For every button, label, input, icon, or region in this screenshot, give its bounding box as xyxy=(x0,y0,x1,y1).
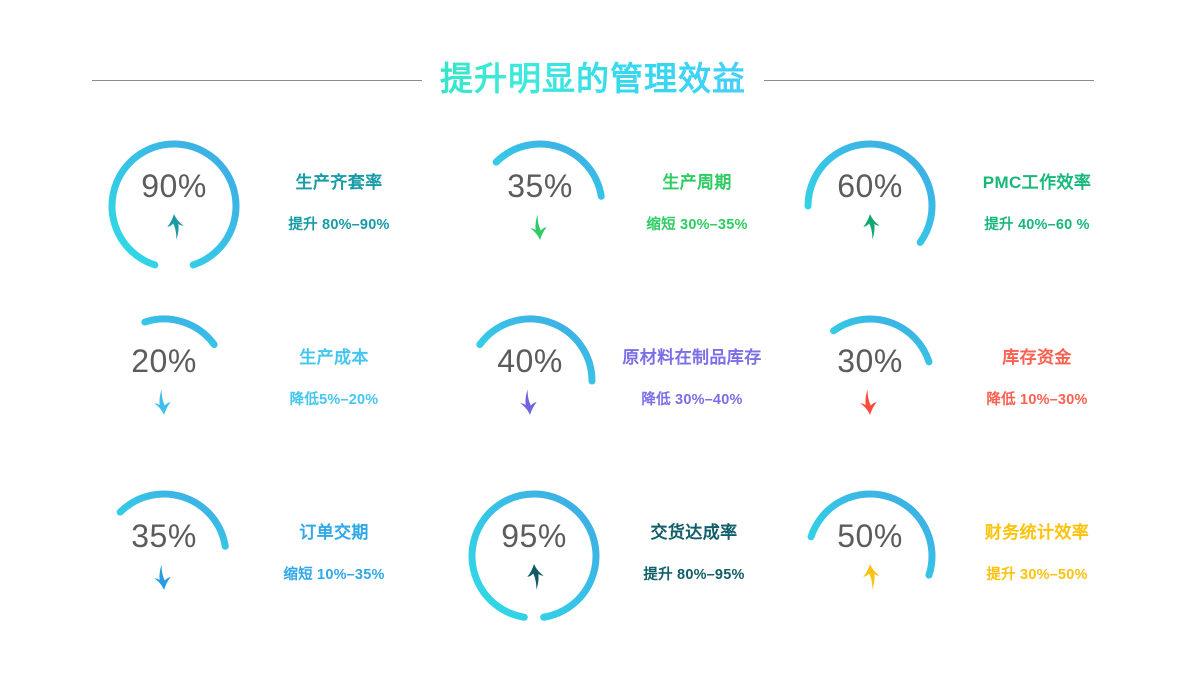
arrow-icon-svg xyxy=(517,387,543,417)
metric-text-block: 财务统计效率提升 30%–50% xyxy=(944,523,1122,585)
metric-text-block: 生产齐套率提升 80%–90% xyxy=(248,173,422,235)
trend-up-arrow-icon xyxy=(161,212,187,242)
trend-up-arrow-icon xyxy=(521,562,547,592)
metric-subtitle: 提升 80%–95% xyxy=(622,567,766,584)
trend-down-arrow-icon xyxy=(527,212,553,242)
page-title: 提升明显的管理效益 xyxy=(440,60,746,100)
progress-ring-arc xyxy=(145,318,214,344)
progress-ring-gauge: 40% xyxy=(456,307,604,455)
gauge-value-label: 95% xyxy=(460,520,608,552)
arrow-icon-svg xyxy=(161,212,187,242)
progress-ring-arc xyxy=(472,494,596,617)
metric-subtitle: 降低 10%–30% xyxy=(958,392,1116,409)
metric-title: 生产齐套率 xyxy=(262,173,416,193)
gauge-value-label: 35% xyxy=(466,170,614,202)
trend-down-arrow-icon xyxy=(151,562,177,592)
metric-subtitle: 缩短 10%–35% xyxy=(252,567,416,584)
metric-card: 30%库存资金降低 10%–30% xyxy=(772,293,1122,468)
gauge-value-label: 90% xyxy=(100,170,248,202)
metric-title: 原材料在制品库存 xyxy=(618,348,766,368)
metric-title: 生产周期 xyxy=(628,173,766,193)
progress-ring-svg xyxy=(796,482,944,630)
trend-up-arrow-icon xyxy=(857,562,883,592)
arrow-icon-svg xyxy=(857,387,883,417)
progress-ring-svg xyxy=(460,482,608,630)
metric-text-block: 库存资金降低 10%–30% xyxy=(944,348,1122,410)
arrow-icon-svg xyxy=(857,212,883,242)
metric-card: 20%生产成本降低5%–20% xyxy=(72,293,422,468)
metric-subtitle: 提升 80%–90% xyxy=(262,217,416,234)
metric-text-block: 订单交期缩短 10%–35% xyxy=(238,523,422,585)
metric-subtitle: 降低5%–20% xyxy=(252,392,416,409)
metric-text-block: 交货达成率提升 80%–95% xyxy=(608,523,772,585)
metric-card: 60%PMC工作效率提升 40%–60 % xyxy=(772,118,1122,293)
progress-ring-gauge: 90% xyxy=(100,132,248,280)
metric-card-grid: 90%生产齐套率提升 80%–90%35%生产周期缩短 30%–35%60%PM… xyxy=(72,118,1122,643)
gauge-value-label: 40% xyxy=(456,345,604,377)
metric-subtitle: 提升 30%–50% xyxy=(958,567,1116,584)
progress-ring-gauge: 50% xyxy=(796,482,944,630)
metric-card: 35%生产周期缩短 30%–35% xyxy=(422,118,772,293)
metric-card: 35%订单交期缩短 10%–35% xyxy=(72,468,422,643)
metric-text-block: 生产周期缩短 30%–35% xyxy=(614,173,772,235)
metric-title: 交货达成率 xyxy=(622,523,766,543)
progress-ring-svg xyxy=(90,482,238,630)
infographic-slide: 提升明显的管理效益 90%生产齐套率提升 80%–90%35%生产周期缩短 30… xyxy=(0,0,1186,684)
gauge-value-label: 50% xyxy=(796,520,944,552)
gauge-value-label: 20% xyxy=(90,345,238,377)
progress-ring-gauge: 35% xyxy=(90,482,238,630)
gauge-value-label: 35% xyxy=(90,520,238,552)
metric-text-block: 生产成本降低5%–20% xyxy=(238,348,422,410)
progress-ring-svg xyxy=(466,132,614,280)
gauge-value-label: 30% xyxy=(796,345,944,377)
trend-down-arrow-icon xyxy=(517,387,543,417)
header-rule-right xyxy=(764,80,1094,81)
metric-title: PMC工作效率 xyxy=(958,173,1116,193)
progress-ring-svg xyxy=(456,307,604,455)
gauge-value-label: 60% xyxy=(796,170,944,202)
progress-ring-gauge: 20% xyxy=(90,307,238,455)
arrow-icon-svg xyxy=(151,387,177,417)
metric-text-block: 原材料在制品库存降低 30%–40% xyxy=(604,348,772,410)
metric-subtitle: 提升 40%–60 % xyxy=(958,217,1116,234)
arrow-icon-svg xyxy=(151,562,177,592)
progress-ring-svg xyxy=(90,307,238,455)
progress-ring-svg xyxy=(796,307,944,455)
progress-ring-gauge: 60% xyxy=(796,132,944,280)
metric-title: 财务统计效率 xyxy=(958,523,1116,543)
header-rule-left xyxy=(92,80,422,81)
metric-title: 订单交期 xyxy=(252,523,416,543)
metric-subtitle: 缩短 30%–35% xyxy=(628,217,766,234)
progress-ring-gauge: 35% xyxy=(466,132,614,280)
metric-card: 50%财务统计效率提升 30%–50% xyxy=(772,468,1122,643)
arrow-icon-svg xyxy=(857,562,883,592)
progress-ring-svg xyxy=(796,132,944,280)
arrow-icon-svg xyxy=(521,562,547,592)
metric-title: 生产成本 xyxy=(252,348,416,368)
metric-text-block: PMC工作效率提升 40%–60 % xyxy=(944,173,1122,235)
metric-card: 90%生产齐套率提升 80%–90% xyxy=(72,118,422,293)
trend-down-arrow-icon xyxy=(857,387,883,417)
metric-subtitle: 降低 30%–40% xyxy=(618,392,766,409)
trend-down-arrow-icon xyxy=(151,387,177,417)
page-header: 提升明显的管理效益 xyxy=(0,56,1186,104)
arrow-icon-svg xyxy=(527,212,553,242)
trend-up-arrow-icon xyxy=(857,212,883,242)
progress-ring-gauge: 95% xyxy=(460,482,608,630)
metric-title: 库存资金 xyxy=(958,348,1116,368)
metric-card: 40%原材料在制品库存降低 30%–40% xyxy=(422,293,772,468)
progress-ring-svg xyxy=(100,132,248,280)
progress-ring-gauge: 30% xyxy=(796,307,944,455)
progress-ring-arc xyxy=(112,144,236,265)
metric-card: 95%交货达成率提升 80%–95% xyxy=(422,468,772,643)
